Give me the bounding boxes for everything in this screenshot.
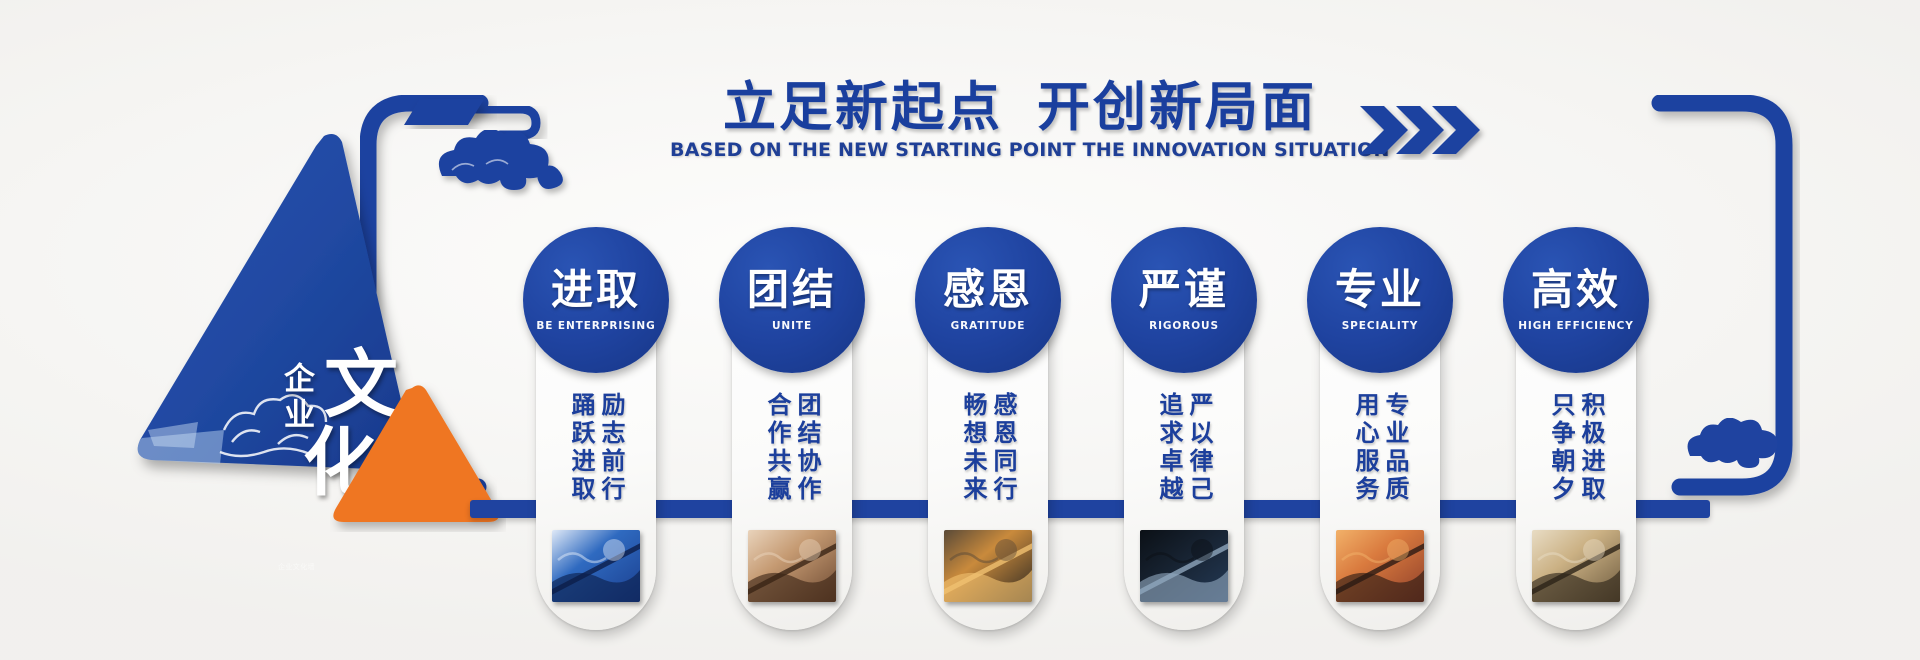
badge-chinese-label: 专业 <box>1335 269 1425 311</box>
badge-english-label: RIGOROUS <box>1149 320 1219 332</box>
value-pill-card[interactable]: 团结UNITE团结协作合作共赢 <box>732 240 852 630</box>
value-slogan-group: 励志前行踊跃进取 <box>536 392 656 504</box>
value-badge[interactable]: 团结UNITE <box>719 227 865 373</box>
value-badge[interactable]: 高效HIGH EFFICIENCY <box>1503 227 1649 373</box>
badge-chinese-label: 感恩 <box>943 269 1033 311</box>
headline-english: BASED ON THE NEW STARTING POINT THE INNO… <box>670 139 1370 161</box>
runner-track-photo[interactable] <box>1336 530 1424 602</box>
slogan-line-primary: 感恩同行 <box>991 392 1015 504</box>
silhouette-sunset-photo[interactable] <box>944 530 1032 602</box>
slogan-line-secondary: 只争朝夕 <box>1549 392 1573 504</box>
slogan-line-secondary: 合作共赢 <box>765 392 789 504</box>
value-slogan-group: 积极进取只争朝夕 <box>1516 392 1636 504</box>
handshake-photo[interactable] <box>748 530 836 602</box>
value-badge[interactable]: 严谨RIGOROUS <box>1111 227 1257 373</box>
badge-chinese-label: 严谨 <box>1139 269 1229 311</box>
value-badge[interactable]: 专业SPECIALITY <box>1307 227 1453 373</box>
slogan-line-secondary: 踊跃进取 <box>569 392 593 504</box>
slogan-line-primary: 团结协作 <box>795 392 819 504</box>
pocket-watch-photo[interactable] <box>1532 530 1620 602</box>
chevron-arrows-group <box>1358 100 1488 160</box>
value-slogan-group: 团结协作合作共赢 <box>732 392 852 504</box>
slogan-line-primary: 专业品质 <box>1383 392 1407 504</box>
value-slogan-group: 专业品质用心服务 <box>1320 392 1440 504</box>
headline-block: 立足新起点开创新局面 BASED ON THE NEW STARTING POI… <box>670 80 1370 161</box>
badge-english-label: BE ENTERPRISING <box>536 320 655 332</box>
value-slogan-group: 严以律己追求卓越 <box>1124 392 1244 504</box>
badge-english-label: UNITE <box>772 320 812 332</box>
value-pill-card[interactable]: 专业SPECIALITY专业品质用心服务 <box>1320 240 1440 630</box>
slogan-line-secondary: 用心服务 <box>1353 392 1377 504</box>
value-pill-card[interactable]: 进取BE ENTERPRISING励志前行踊跃进取 <box>536 240 656 630</box>
badge-english-label: GRATITUDE <box>951 320 1026 332</box>
badge-english-label: HIGH EFFICIENCY <box>1518 320 1634 332</box>
headline-chinese: 立足新起点开创新局面 <box>670 80 1370 136</box>
slogan-line-primary: 严以律己 <box>1187 392 1211 504</box>
slogan-line-primary: 励志前行 <box>599 392 623 504</box>
slogan-line-secondary: 追求卓越 <box>1157 392 1181 504</box>
chinese-cloud-motif <box>430 130 580 204</box>
headline-part-1: 立足新起点 <box>723 77 1003 138</box>
slogan-line-primary: 积极进取 <box>1579 392 1603 504</box>
badge-chinese-label: 高效 <box>1531 269 1621 311</box>
headline-part-2: 开创新局面 <box>1037 77 1317 138</box>
badge-english-label: SPECIALITY <box>1342 320 1419 332</box>
rowing-team-photo[interactable] <box>552 530 640 602</box>
eagle-flight-photo[interactable] <box>1140 530 1228 602</box>
culture-wall-scene: 企业 文 化 COMPANY CULTURE 企业文化墙 <box>0 0 1920 660</box>
slogan-line-secondary: 畅想未来 <box>961 392 985 504</box>
value-pill-card[interactable]: 严谨RIGOROUS严以律己追求卓越 <box>1124 240 1244 630</box>
value-pill-card[interactable]: 感恩GRATITUDE感恩同行畅想未来 <box>928 240 1048 630</box>
value-slogan-group: 感恩同行畅想未来 <box>928 392 1048 504</box>
chevron-right-icon <box>1360 106 1408 154</box>
value-pill-card[interactable]: 高效HIGH EFFICIENCY积极进取只争朝夕 <box>1516 240 1636 630</box>
value-badge[interactable]: 进取BE ENTERPRISING <box>523 227 669 373</box>
logo-watermark: 企业文化墙 <box>278 562 315 572</box>
value-badge[interactable]: 感恩GRATITUDE <box>915 227 1061 373</box>
badge-chinese-label: 进取 <box>551 269 641 311</box>
badge-chinese-label: 团结 <box>747 269 837 311</box>
chinese-cloud-motif-right <box>1680 418 1790 478</box>
